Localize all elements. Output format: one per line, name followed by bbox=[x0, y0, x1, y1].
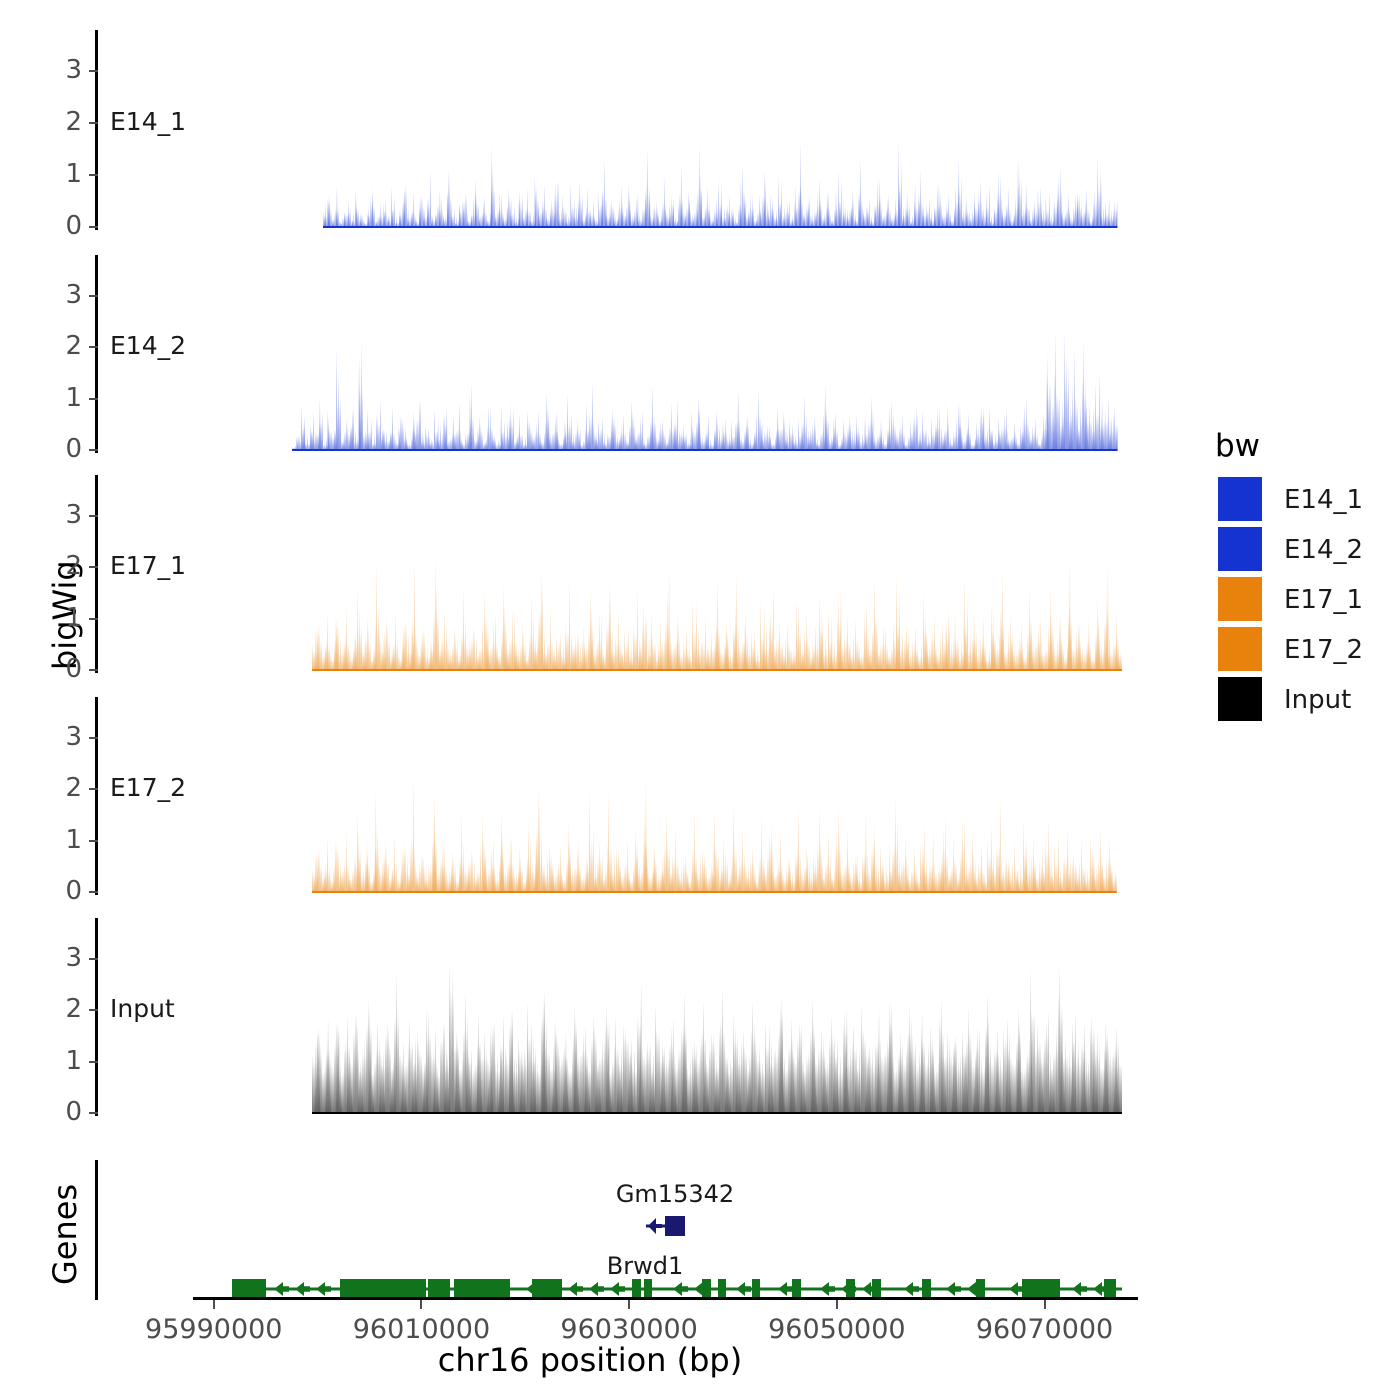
y-tick bbox=[89, 1061, 98, 1063]
legend-swatch-e17_1[interactable] bbox=[1218, 577, 1262, 621]
x-tick bbox=[213, 1300, 215, 1309]
legend-swatch-e17_2[interactable] bbox=[1218, 627, 1262, 671]
y-tick-label: 1 bbox=[20, 1048, 82, 1074]
gene-panel: Gm15342 Brwd1 bbox=[0, 1155, 1180, 1300]
gene-panel-spine bbox=[95, 1160, 98, 1300]
legend-label-e17_1[interactable]: E17_1 bbox=[1284, 585, 1363, 615]
y-tick-label: 3 bbox=[20, 945, 82, 971]
gene-label-brwd1: Brwd1 bbox=[545, 1252, 745, 1280]
gene-label-gm15342: Gm15342 bbox=[575, 1180, 775, 1208]
legend-swatch-input[interactable] bbox=[1218, 677, 1262, 721]
x-tick bbox=[836, 1300, 838, 1309]
y-tick bbox=[89, 1009, 98, 1011]
y-tick-label: 2 bbox=[20, 996, 82, 1022]
gene-model-gm15342 bbox=[645, 1213, 693, 1239]
x-tick bbox=[628, 1300, 630, 1309]
legend-label-e14_2[interactable]: E14_2 bbox=[1284, 535, 1363, 565]
x-tick bbox=[420, 1300, 422, 1309]
legend-swatch-e14_2[interactable] bbox=[1218, 527, 1262, 571]
legend-label-input[interactable]: Input bbox=[1284, 685, 1351, 715]
legend-title: bw bbox=[1215, 428, 1260, 464]
y-axis-spine bbox=[95, 918, 98, 1116]
track-name-input: Input bbox=[110, 994, 175, 1023]
x-axis-title: chr16 position (bp) bbox=[0, 1341, 1180, 1379]
genome-browser-figure: bigWig Genes 0123E14_10123E14_20123E17_1… bbox=[0, 0, 1400, 1400]
y-tick bbox=[89, 1112, 98, 1114]
y-tick bbox=[89, 958, 98, 960]
y-tick-label: 0 bbox=[20, 1099, 82, 1125]
legend-swatch-e14_1[interactable] bbox=[1218, 477, 1262, 521]
legend-label-e14_1[interactable]: E14_1 bbox=[1284, 485, 1363, 515]
signal-area-input bbox=[312, 918, 1122, 1115]
x-axis-spine bbox=[193, 1297, 1138, 1300]
legend-label-e17_2[interactable]: E17_2 bbox=[1284, 635, 1363, 665]
x-tick bbox=[1044, 1300, 1046, 1309]
